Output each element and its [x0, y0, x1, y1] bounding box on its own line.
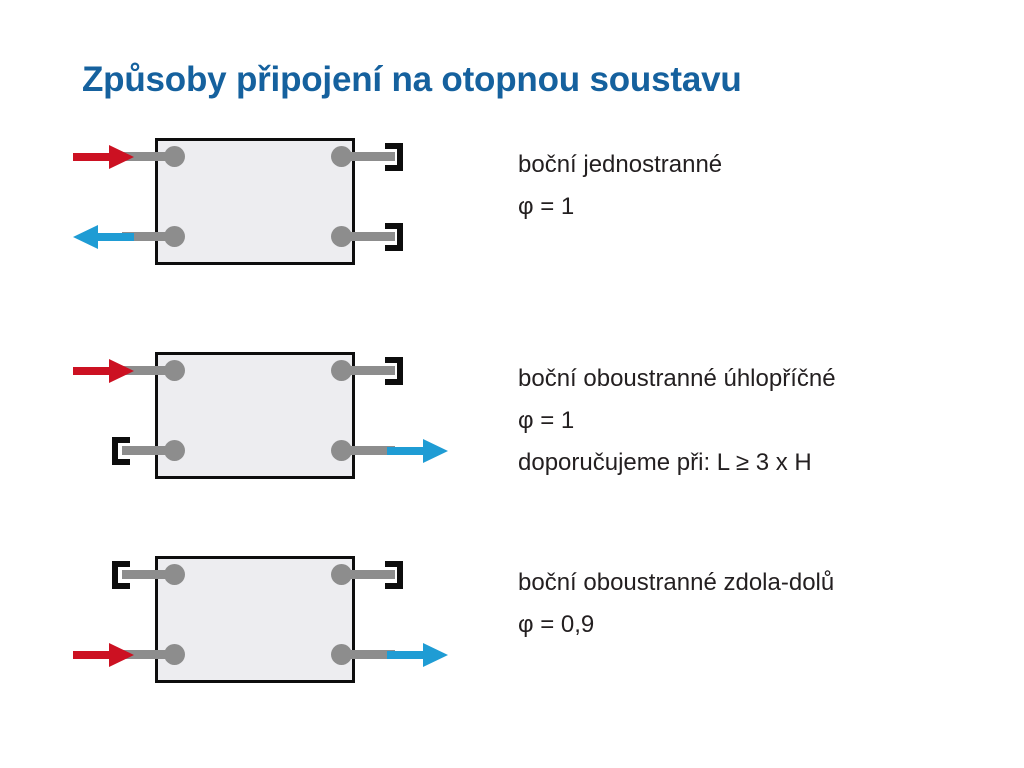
connection-row: boční oboustranné zdola-dolů φ = 0,9: [0, 548, 1024, 698]
port-top-left: [164, 564, 185, 585]
blind-plug-top-left: [112, 561, 130, 589]
radiator-diagram-side-one-sided: [65, 130, 465, 280]
radiator-diagram-side-two-sided-bottom-bottom: [65, 548, 465, 698]
blind-plug-bottom-left: [112, 437, 130, 465]
connection-caption: boční jednostranné φ = 1: [518, 144, 988, 228]
return-arrow-bottom-left: [73, 224, 135, 250]
supply-arrow-top-left: [73, 358, 135, 384]
connection-row: boční jednostranné φ = 1: [0, 130, 1024, 280]
supply-arrow-top-left: [73, 144, 135, 170]
caption-line: doporučujeme při: L ≥ 3 x H: [518, 442, 988, 484]
blind-plug-bottom-right: [385, 223, 403, 251]
port-bottom-right: [331, 644, 352, 665]
return-arrow-bottom-right: [387, 438, 449, 464]
connection-caption: boční oboustranné úhlopříčné φ = 1 dopor…: [518, 358, 988, 484]
port-top-left: [164, 360, 185, 381]
slide-canvas: Způsoby připojení na otopnou soustavu: [0, 0, 1024, 768]
return-arrow-bottom-right: [387, 642, 449, 668]
caption-line: boční oboustranné zdola-dolů: [518, 562, 988, 604]
port-bottom-right: [331, 226, 352, 247]
port-top-right: [331, 360, 352, 381]
port-bottom-left: [164, 440, 185, 461]
caption-line: boční jednostranné: [518, 144, 988, 186]
port-bottom-left: [164, 644, 185, 665]
caption-line: φ = 0,9: [518, 604, 988, 646]
port-bottom-left: [164, 226, 185, 247]
radiator-body: [155, 138, 355, 265]
page-title: Způsoby připojení na otopnou soustavu: [82, 60, 742, 100]
radiator-diagram-side-two-sided-diagonal: [65, 344, 465, 494]
supply-arrow-bottom-left: [73, 642, 135, 668]
blind-plug-top-right: [385, 143, 403, 171]
radiator-body: [155, 352, 355, 479]
connection-caption: boční oboustranné zdola-dolů φ = 0,9: [518, 562, 988, 646]
caption-line: φ = 1: [518, 186, 988, 228]
port-top-right: [331, 146, 352, 167]
port-bottom-right: [331, 440, 352, 461]
caption-line: φ = 1: [518, 400, 988, 442]
connection-row: boční oboustranné úhlopříčné φ = 1 dopor…: [0, 344, 1024, 494]
radiator-body: [155, 556, 355, 683]
port-top-left: [164, 146, 185, 167]
blind-plug-top-right: [385, 561, 403, 589]
port-top-right: [331, 564, 352, 585]
caption-line: boční oboustranné úhlopříčné: [518, 358, 988, 400]
blind-plug-top-right: [385, 357, 403, 385]
